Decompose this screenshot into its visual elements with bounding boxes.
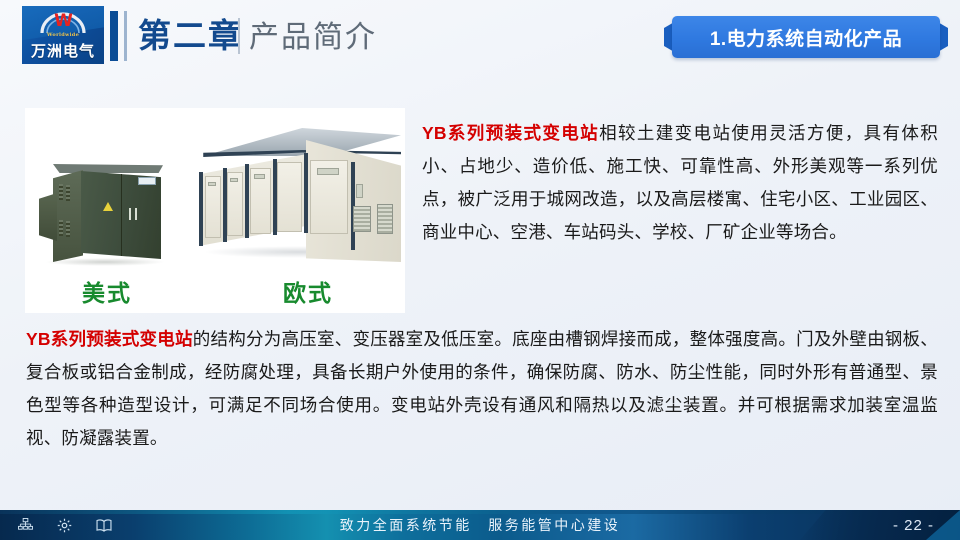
logo-brand-en: Worldwide xyxy=(22,32,104,38)
warning-triangle-icon xyxy=(103,202,113,211)
american-substation-image xyxy=(37,158,167,268)
american-substation-nameplate xyxy=(138,177,156,185)
keyword-bottom: YB系列预装式变电站 xyxy=(26,329,193,349)
american-substation-vent-bottom2 xyxy=(66,221,70,237)
american-substation-handle-right xyxy=(135,208,137,220)
american-substation-roof xyxy=(53,164,163,173)
header-accent-bar-thin xyxy=(124,11,127,61)
european-substation-image xyxy=(193,124,403,274)
european-plate-4 xyxy=(317,168,339,175)
european-plate-1 xyxy=(208,182,216,186)
slide-header: W Worldwide 万洲电气 第二章 产品简介 1.电力系统自动化产品 xyxy=(0,0,960,86)
american-substation-vent-bottom xyxy=(59,220,63,236)
company-logo: W Worldwide 万洲电气 xyxy=(22,6,104,64)
paragraph-bottom: YB系列预装式变电站的结构分为高压室、变压器室及低压室。底座由槽钢焊接而成，整体… xyxy=(26,323,938,455)
american-substation-handle-left xyxy=(129,208,131,220)
section-badge: 1.电力系统自动化产品 xyxy=(664,16,948,58)
chapter-title: 第二章 xyxy=(138,14,243,58)
european-post-5 xyxy=(304,153,308,233)
badge-label: 1.电力系统自动化产品 xyxy=(672,16,940,58)
header-accent-bar-thick xyxy=(110,11,118,61)
european-door-4 xyxy=(277,162,302,232)
american-substation-door-seam xyxy=(121,174,122,256)
european-plate-2 xyxy=(230,178,238,182)
european-plate-3 xyxy=(254,174,265,179)
logo-monogram: W xyxy=(54,13,72,30)
american-substation-extension xyxy=(39,193,57,241)
product-photo-panel: 美式 欧式 xyxy=(25,108,405,313)
paragraph-right: YB系列预装式变电站相较土建变电站使用灵活方便，具有体积小、占地少、造价低、施工… xyxy=(422,117,938,249)
european-plate-5 xyxy=(356,184,363,198)
title-divider xyxy=(238,18,240,54)
logo-brand-cn: 万洲电气 xyxy=(22,40,104,61)
american-substation-side xyxy=(53,170,83,262)
caption-european: 欧式 xyxy=(283,274,333,308)
european-vent-grille-1 xyxy=(353,206,371,232)
american-substation-vent-top2 xyxy=(66,185,70,201)
keyword-right: YB系列预装式变电站 xyxy=(422,123,599,143)
slide-footer: 致力全面系统节能 服务能管中心建设 - 22 - xyxy=(0,510,960,540)
page-number: - 22 - xyxy=(893,510,934,540)
caption-american: 美式 xyxy=(82,274,132,308)
footer-slogan: 致力全面系统节能 服务能管中心建设 xyxy=(0,510,960,540)
section-subtitle: 产品简介 xyxy=(249,16,377,60)
european-post-1 xyxy=(199,172,203,246)
european-vent-grille-2 xyxy=(377,204,393,234)
european-post-3 xyxy=(245,164,249,238)
american-substation-vent-top xyxy=(59,184,63,200)
